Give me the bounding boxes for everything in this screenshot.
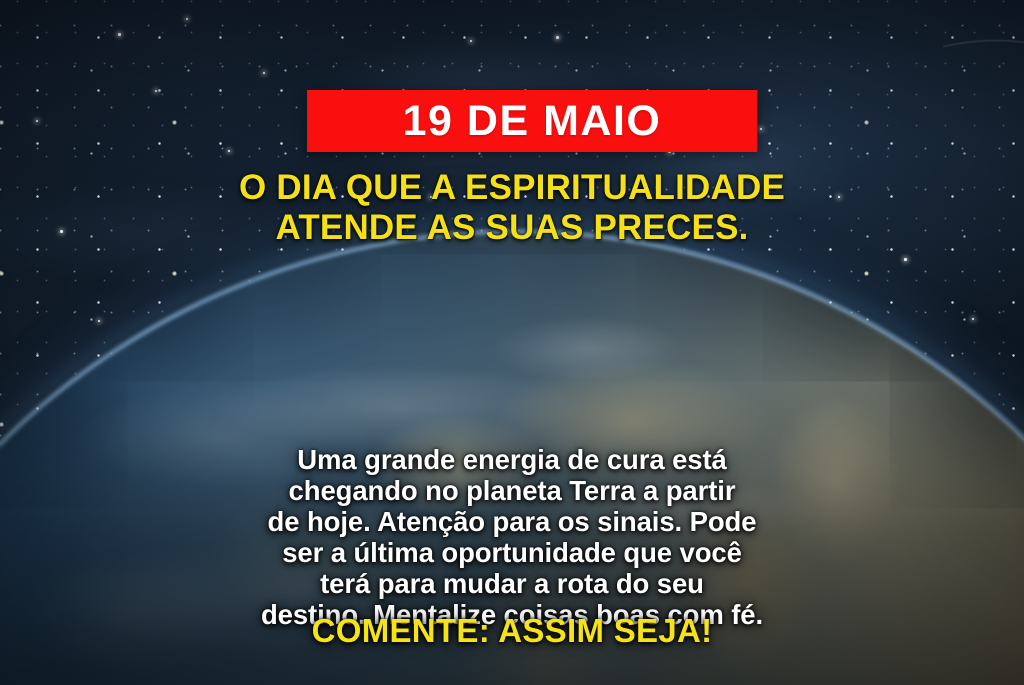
headline-line-1: O DIA QUE A ESPIRITUALIDADE <box>0 168 1024 208</box>
body-paragraph: Uma grande energia de cura está chegando… <box>62 444 962 630</box>
body-line-1: Uma grande energia de cura está <box>62 444 962 475</box>
poster-content: 19 DE MAIO O DIA QUE A ESPIRITUALIDADE A… <box>0 0 1024 685</box>
headline: O DIA QUE A ESPIRITUALIDADE ATENDE AS SU… <box>0 168 1024 247</box>
body-line-3: de hoje. Atenção para os sinais. Pode <box>62 506 962 537</box>
poster-root: 19 DE MAIO O DIA QUE A ESPIRITUALIDADE A… <box>0 0 1024 685</box>
body-line-5: terá para mudar a rota do seu <box>62 568 962 599</box>
headline-line-2: ATENDE AS SUAS PRECES. <box>0 208 1024 248</box>
body-line-4: ser a última oportunidade que você <box>62 537 962 568</box>
body-line-2: chegando no planeta Terra a partir <box>62 475 962 506</box>
call-to-action: COMENTE: ASSIM SEJA! <box>0 613 1024 649</box>
date-banner-label: 19 DE MAIO <box>403 100 662 143</box>
date-banner: 19 DE MAIO <box>307 90 757 152</box>
